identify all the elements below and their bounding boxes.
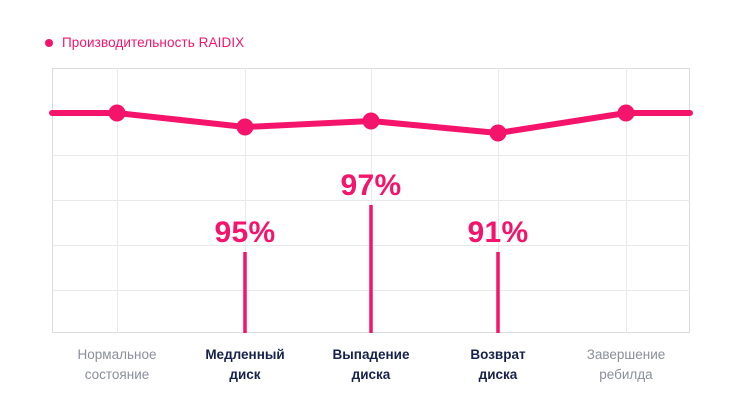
category-label-line2: диск: [205, 365, 284, 385]
legend-label: Производительность RAIDIX: [62, 36, 244, 50]
gridline-vertical: [245, 68, 246, 333]
value-label: 95%: [215, 218, 276, 248]
category-label-line1: Медленный: [205, 345, 284, 365]
category-label-line2: ребилда: [587, 365, 666, 385]
category-label-line1: Выпадение: [333, 345, 410, 365]
category-label-line2: диска: [470, 365, 525, 385]
category-label-line2: состояние: [78, 365, 157, 385]
value-label: 91%: [468, 218, 529, 248]
gridline-vertical: [626, 68, 627, 333]
category-label-normal-state: Нормальное состояние: [78, 345, 157, 384]
gridline-vertical: [498, 68, 499, 333]
category-label-disk-return: Возврат диска: [470, 345, 525, 384]
category-label-line1: Завершение: [587, 345, 666, 365]
value-label: 97%: [341, 171, 402, 201]
chart-legend: Производительность RAIDIX: [45, 33, 244, 53]
performance-line-chart: Производительность RAIDIX 95% 97% 91%: [0, 0, 739, 418]
category-label-slow-disk: Медленный диск: [205, 345, 284, 384]
legend-dot-icon: [45, 39, 53, 47]
category-label-rebuild-complete: Завершение ребилда: [587, 345, 666, 384]
category-label-line2: диска: [333, 365, 410, 385]
gridline-vertical: [117, 68, 118, 333]
category-label-line1: Нормальное: [78, 345, 157, 365]
category-label-line1: Возврат: [470, 345, 525, 365]
category-label-disk-failure: Выпадение диска: [333, 345, 410, 384]
